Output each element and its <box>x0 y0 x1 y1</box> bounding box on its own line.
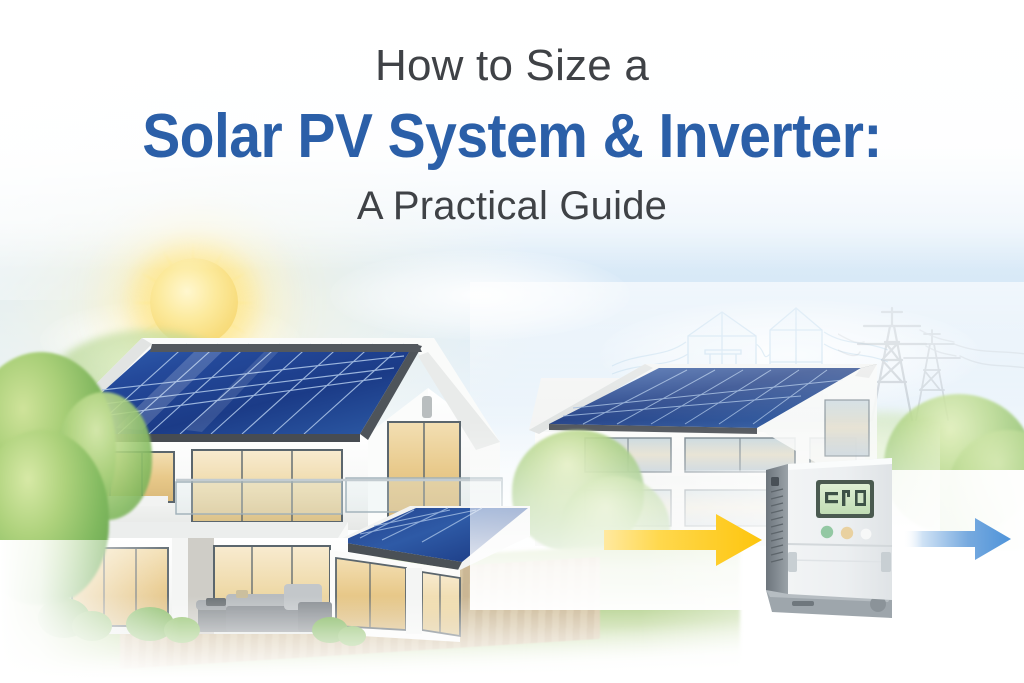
ground-fade-left <box>0 540 180 683</box>
ac-power-flow-arrow <box>903 516 1013 562</box>
solar-inverter <box>752 452 920 628</box>
dc-power-flow-arrow <box>604 512 764 568</box>
hero-banner: How to Size a Solar PV System & Inverter… <box>0 0 1024 683</box>
